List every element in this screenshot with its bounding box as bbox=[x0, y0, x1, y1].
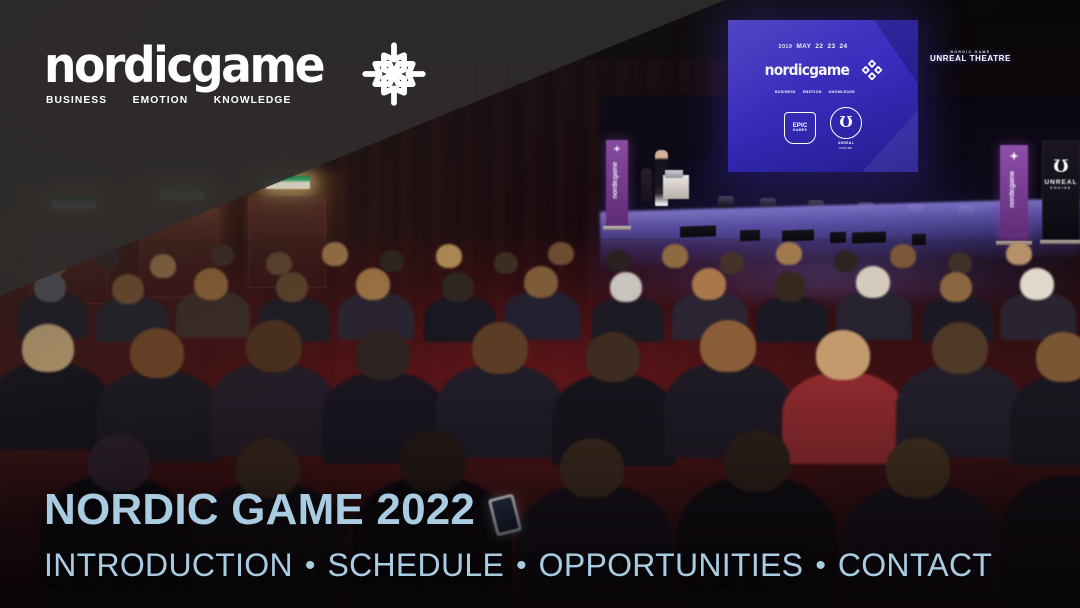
screen-tagline-emotion: EMOTION bbox=[803, 90, 822, 94]
nordicgame-logo[interactable]: nordicgame BUSINESS EMOTION KNOWLEDGE bbox=[44, 38, 430, 110]
unreal-banner-sub: ENGINE bbox=[1043, 186, 1079, 190]
epic-sub: GAMES bbox=[793, 129, 807, 133]
screen-year: 2019 bbox=[779, 44, 793, 50]
exit-sign bbox=[160, 186, 204, 199]
tagline-business: BUSINESS bbox=[46, 94, 107, 106]
screen-date-1: 22 bbox=[815, 43, 823, 50]
laptop bbox=[665, 170, 683, 178]
tagline-knowledge: KNOWLEDGE bbox=[214, 94, 292, 106]
nav-separator: • bbox=[516, 551, 527, 581]
brand-text: nordicgame BUSINESS EMOTION KNOWLEDGE bbox=[44, 42, 344, 105]
screen-dateline: 2019 MAY 22 23 24 bbox=[779, 43, 848, 50]
unreal-name: UNREAL bbox=[838, 141, 854, 145]
unreal-engine-banner-content: Ʊ UNREAL ENGINE bbox=[1043, 157, 1079, 190]
page-title: NORDIC GAME 2022 bbox=[44, 488, 992, 533]
lectern bbox=[663, 175, 689, 199]
nav-separator: • bbox=[815, 551, 826, 581]
stage-assistant-figure bbox=[641, 168, 652, 202]
nav-item-schedule[interactable]: SCHEDULE bbox=[327, 547, 504, 584]
stage-monitor bbox=[680, 225, 716, 237]
hero-nav: INTRODUCTION • SCHEDULE • OPPORTUNITIES … bbox=[44, 547, 992, 584]
banner-logo-mark-icon: ✦ bbox=[608, 144, 626, 155]
venue-name: UNREAL THEATRE bbox=[930, 54, 1011, 64]
nav-item-introduction[interactable]: INTRODUCTION bbox=[44, 547, 293, 584]
nav-separator: • bbox=[305, 551, 316, 581]
sponsor-epic-games: EPIC GAMES bbox=[784, 112, 816, 144]
screen-tagline: BUSINESS EMOTION KNOWLEDGE bbox=[775, 90, 855, 94]
screen-tagline-business: BUSINESS bbox=[775, 90, 796, 94]
unreal-logo-icon: Ʊ bbox=[1053, 157, 1068, 177]
screen-content: 2019 MAY 22 23 24 nordicgame bbox=[728, 20, 918, 172]
epic-games-logo-icon: EPIC GAMES bbox=[784, 112, 816, 144]
screen-date-2: 23 bbox=[827, 43, 835, 50]
brand-tagline: BUSINESS EMOTION KNOWLEDGE bbox=[44, 94, 338, 106]
hero-titles: NORDIC GAME 2022 INTRODUCTION • SCHEDULE… bbox=[44, 488, 992, 584]
nav-item-contact[interactable]: CONTACT bbox=[838, 547, 992, 584]
screen-date-3: 24 bbox=[839, 43, 847, 50]
nav-item-opportunities[interactable]: OPPORTUNITIES bbox=[539, 547, 804, 584]
venue-kicker: NORDIC GAME bbox=[930, 50, 1011, 54]
projection-screen: 2019 MAY 22 23 24 nordicgame bbox=[728, 20, 918, 172]
banner-logo-mark-icon: ✦ bbox=[1002, 150, 1026, 163]
screen-wordmark: nordicgame bbox=[765, 61, 849, 79]
exit-sign bbox=[266, 176, 310, 189]
screen-pinwheel-compass-icon bbox=[859, 57, 885, 83]
exit-sign bbox=[52, 196, 96, 209]
banner-nordicgame-left: ✦ nordicgame bbox=[606, 140, 628, 226]
hero-banner: ✦ nordicgame ✦ nordicgame Ʊ UNREAL ENGIN… bbox=[0, 0, 1080, 608]
banner-unreal-engine: Ʊ UNREAL ENGINE bbox=[1042, 140, 1080, 240]
banner-left-wordmark: nordicgame bbox=[612, 162, 619, 199]
screen-month: MAY bbox=[796, 43, 811, 50]
screen-logo-row: nordicgame bbox=[761, 57, 885, 83]
brand-wordmark: nordicgame bbox=[44, 42, 323, 90]
banner-base bbox=[603, 226, 631, 230]
banner-nordicgame-right: ✦ nordicgame bbox=[1000, 145, 1028, 241]
pinwheel-compass-icon bbox=[358, 38, 430, 110]
banner-right-wordmark: nordicgame bbox=[1009, 171, 1016, 208]
sponsor-unreal-engine: Ʊ UNREAL ENGINE bbox=[830, 107, 862, 150]
unreal-banner-name: UNREAL bbox=[1043, 179, 1079, 186]
venue-label: NORDIC GAME UNREAL THEATRE bbox=[930, 50, 1011, 64]
unreal-engine-logo-icon: Ʊ bbox=[830, 107, 862, 139]
tagline-emotion: EMOTION bbox=[133, 94, 189, 106]
unreal-sub: ENGINE bbox=[840, 147, 853, 150]
screen-sponsors: EPIC GAMES Ʊ UNREAL ENGINE bbox=[784, 107, 862, 150]
unreal-glyph: Ʊ bbox=[839, 115, 852, 131]
screen-tagline-knowledge: KNOWLEDGE bbox=[829, 90, 855, 94]
